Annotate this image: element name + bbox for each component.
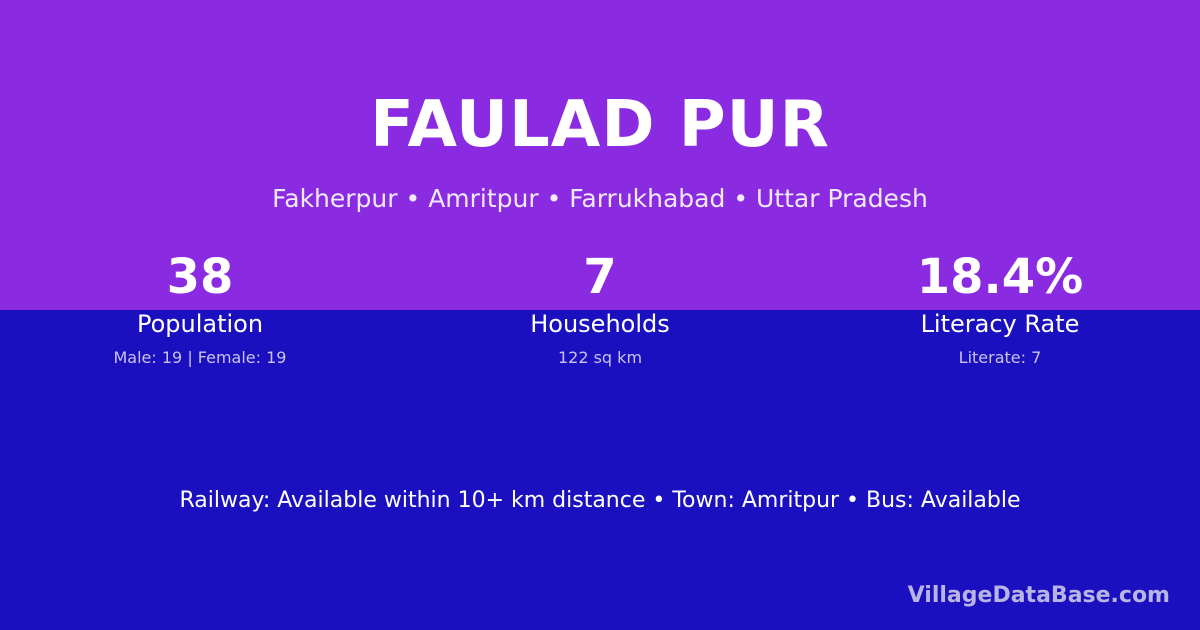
site-brand: VillageDataBase.com	[908, 582, 1170, 610]
stat-literacy-rate: 18.4% Literacy Rate Literate: 7	[800, 248, 1200, 369]
stat-sublabel: Literate: 7	[800, 347, 1200, 369]
stat-population: 38 Population Male: 19 | Female: 19	[0, 248, 400, 369]
stat-value: 38	[0, 248, 400, 306]
facilities-line: Railway: Available within 10+ km distanc…	[0, 486, 1200, 516]
stat-value: 18.4%	[800, 248, 1200, 306]
village-info-card: FAULAD PUR Fakherpur • Amritpur • Farruk…	[0, 0, 1200, 630]
stat-households: 7 Households 122 sq km	[400, 248, 800, 369]
breadcrumb: Fakherpur • Amritpur • Farrukhabad • Utt…	[0, 182, 1200, 216]
stat-sublabel: Male: 19 | Female: 19	[0, 347, 400, 369]
stat-value: 7	[400, 248, 800, 306]
stats-row: 38 Population Male: 19 | Female: 19 7 Ho…	[0, 248, 1200, 369]
stat-label: Population	[0, 308, 400, 340]
stat-label: Literacy Rate	[800, 308, 1200, 340]
page-title: FAULAD PUR	[0, 86, 1200, 164]
stat-sublabel: 122 sq km	[400, 347, 800, 369]
stat-label: Households	[400, 308, 800, 340]
